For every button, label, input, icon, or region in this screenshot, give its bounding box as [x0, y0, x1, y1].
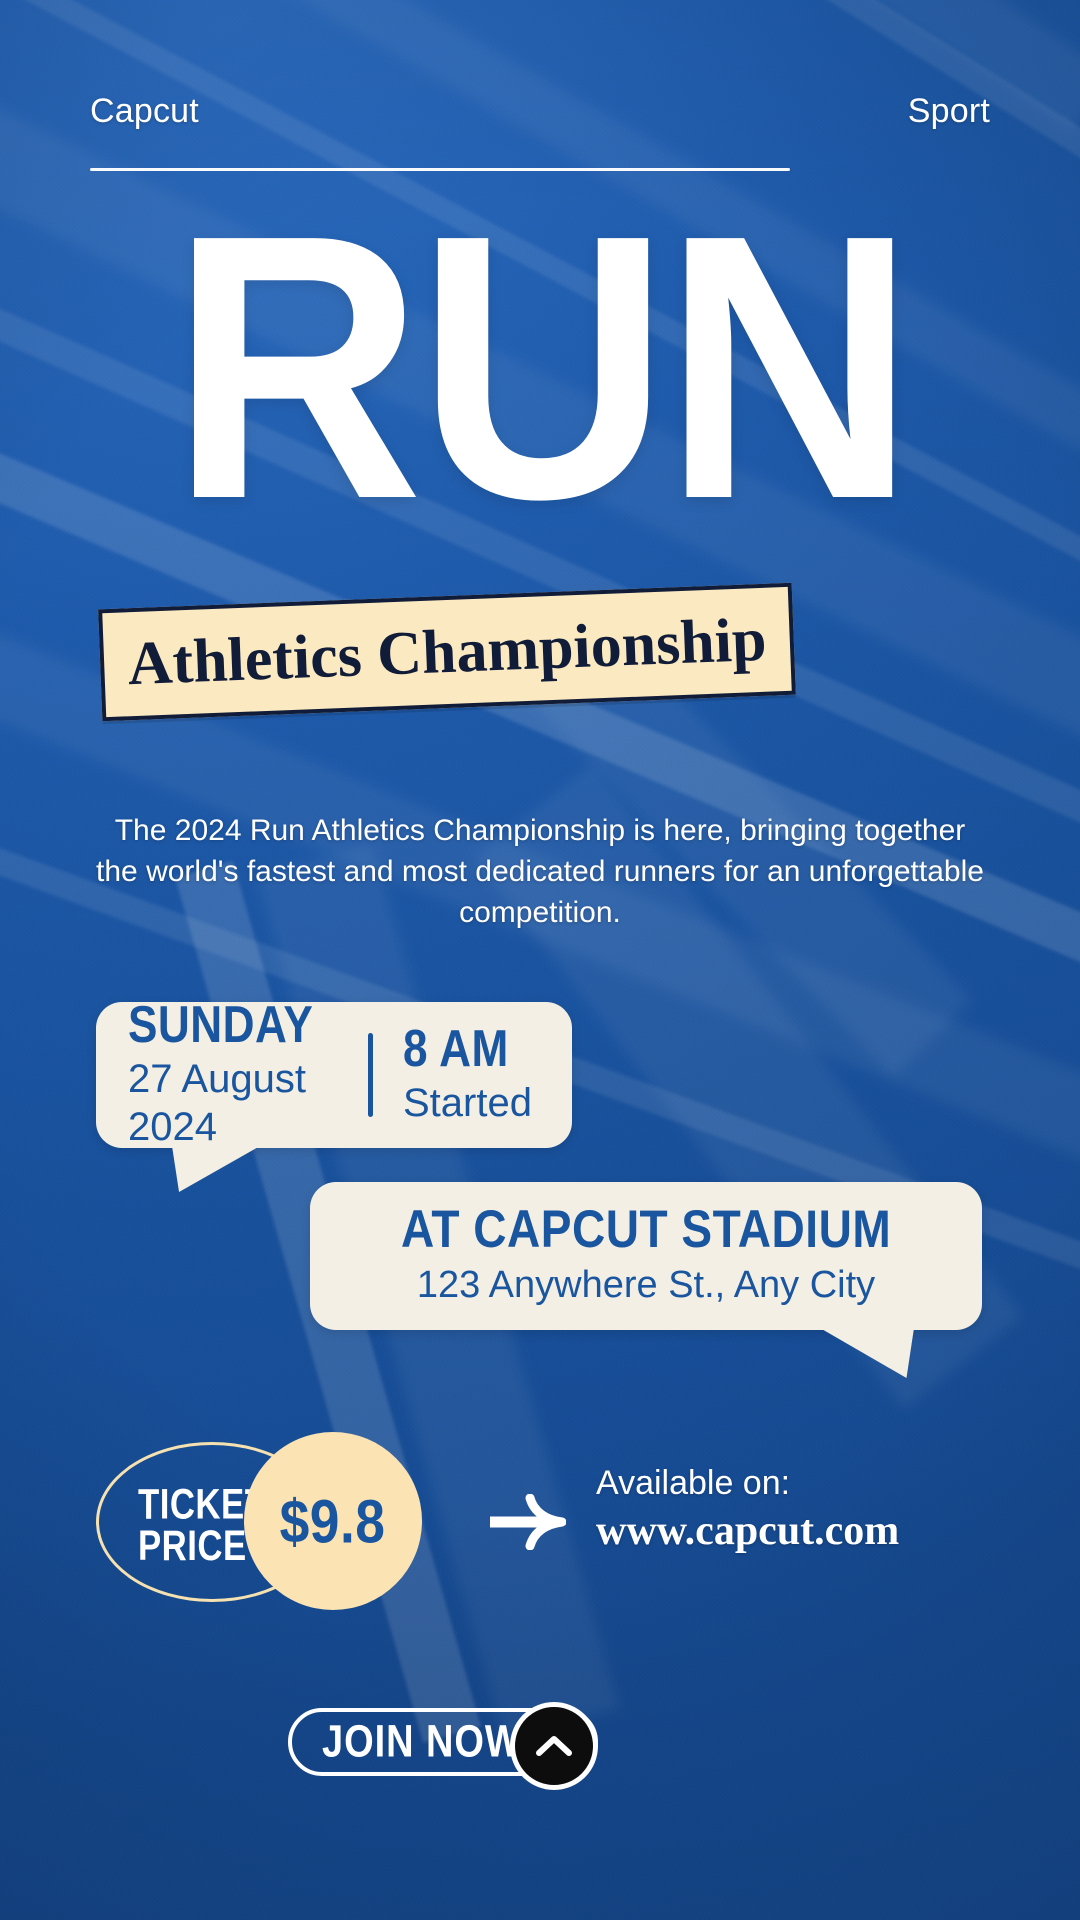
venue-name: AT CAPCUT STADIUM — [401, 1201, 891, 1257]
schedule-divider — [368, 1033, 373, 1117]
venue-bubble: AT CAPCUT STADIUM 123 Anywhere St., Any … — [310, 1182, 982, 1330]
available-label: Available on: — [596, 1462, 899, 1504]
schedule-date-column: SUNDAY 27 August 2024 — [96, 999, 368, 1151]
category-label: Sport — [908, 92, 990, 131]
schedule-time-column: 8 AM Started — [377, 1023, 532, 1127]
price-value: $9.8 — [280, 1485, 386, 1557]
subtitle-text: Athletics Championship — [126, 604, 767, 699]
poster-header: Capcut Sport — [90, 92, 990, 131]
available-url[interactable]: www.capcut.com — [596, 1506, 899, 1556]
join-now-button[interactable]: JOIN NOW — [288, 1708, 598, 1776]
chevron-up-icon — [536, 1735, 572, 1757]
venue-address: 123 Anywhere St., Any City — [417, 1262, 875, 1308]
arrow-right-icon — [488, 1494, 566, 1550]
event-description: The 2024 Run Athletics Championship is h… — [90, 810, 990, 933]
brand-name: Capcut — [90, 92, 199, 131]
join-now-label: JOIN NOW — [322, 1716, 522, 1767]
schedule-bubble: SUNDAY 27 August 2024 8 AM Started — [96, 1002, 572, 1148]
page-title: RUN — [0, 196, 1080, 538]
ticket-price-row: TICKET PRICE $9.8 Available on: www.capc… — [96, 1432, 996, 1612]
join-now-knob[interactable] — [510, 1702, 598, 1790]
schedule-time-status: Started — [403, 1079, 532, 1127]
schedule-time: 8 AM — [403, 1020, 527, 1076]
schedule-date: 27 August 2024 — [128, 1055, 368, 1151]
poster-canvas: Capcut Sport RUN Athletics Championship … — [0, 0, 1080, 1920]
availability-block: Available on: www.capcut.com — [596, 1462, 899, 1556]
schedule-day: SUNDAY — [128, 996, 358, 1052]
price-badge: $9.8 — [244, 1432, 422, 1610]
